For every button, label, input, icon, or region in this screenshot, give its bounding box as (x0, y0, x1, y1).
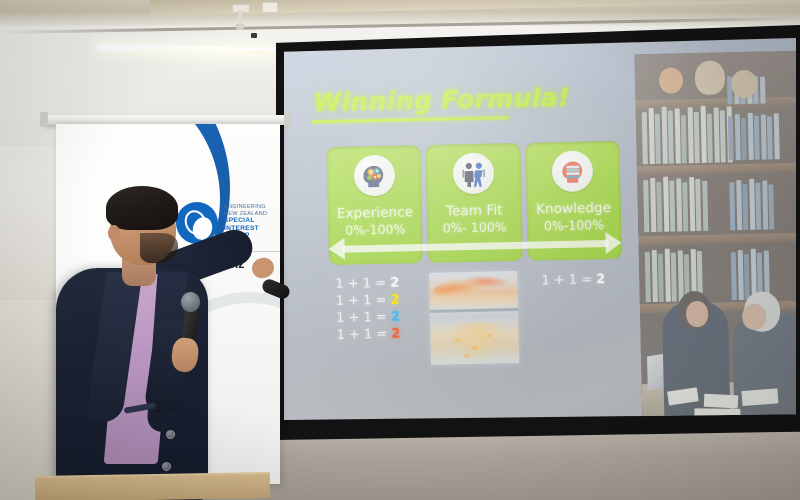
criteria-card-title: Team Fit (446, 202, 503, 219)
left-wall-panel (0, 300, 60, 500)
wall-sensor-icon (251, 33, 257, 38)
equation-text: 1 + 1 = (335, 276, 390, 292)
banner-roller-cap (284, 112, 292, 127)
equation-row: 1 + 1 = 2 (336, 309, 400, 327)
equation-row: 1 + 1 = 2 (335, 275, 399, 293)
sunset-horizon-line (430, 308, 518, 313)
equation-row: 1 + 1 = 2 (541, 271, 605, 289)
banner-org-line3: SPECIAL (224, 217, 280, 224)
presentation-scene: Winning Formula! (0, 0, 800, 500)
equation-list-right: 1 + 1 = 2 (541, 271, 605, 289)
equation-result: 2 (390, 293, 399, 308)
banner-org-line5: GROUP (224, 232, 280, 239)
criteria-card-title: Experience (337, 204, 414, 222)
head-with-books-icon (552, 150, 594, 192)
banner-grey-swoosh (144, 292, 280, 484)
engineering-new-zealand-sig-logo (176, 202, 218, 244)
equation-text: 1 + 1 = (336, 327, 391, 343)
banner-org-line1: ENGINEERING (224, 204, 280, 211)
equation-text: 1 + 1 = (336, 293, 391, 309)
slide-content: Winning Formula! (284, 38, 796, 420)
equation-list-left: 1 + 1 = 2 1 + 1 = 2 1 + 1 = 2 1 + 1 = 2 (335, 275, 400, 344)
banner-org-line2: NEW ZEALAND (224, 211, 280, 218)
equation-result: 2 (391, 310, 400, 325)
banner-url: sigie.org.nz (174, 257, 245, 271)
projection-wash (634, 51, 796, 420)
rollup-banner: ENGINEERING NEW ZEALAND SPECIAL INTEREST… (56, 124, 280, 484)
projection-screen-surface: Winning Formula! (284, 38, 796, 420)
sunset-beach-photo (429, 271, 519, 365)
table (35, 474, 270, 500)
sprinkler-head-icon (236, 24, 244, 30)
arrow-bar (343, 240, 609, 253)
slide-title: Winning Formula! (313, 83, 570, 118)
banner-org-line4: INTEREST (224, 225, 280, 232)
equation-result: 2 (390, 276, 399, 291)
slide-title-underline (312, 116, 509, 123)
banner-roller-cap (40, 112, 48, 127)
equation-text: 1 + 1 = (541, 272, 596, 288)
equation-row: 1 + 1 = 2 (336, 326, 400, 344)
equation-result: 2 (391, 327, 400, 342)
two-people-icon (453, 152, 495, 194)
equation-row: 1 + 1 = 2 (336, 292, 400, 310)
arrow-head-left-icon (328, 238, 344, 260)
sunset-water-glow (448, 322, 505, 363)
library-bookshelf-two-people-photo (634, 51, 796, 420)
arrow-head-right-icon (605, 232, 621, 254)
criteria-card-title: Knowledge (536, 200, 611, 218)
banner-org-text: ENGINEERING NEW ZEALAND SPECIAL INTEREST… (224, 204, 280, 239)
ceiling-speaker-icon (262, 2, 278, 13)
equation-result: 2 (596, 272, 605, 287)
banner-divider (168, 251, 280, 252)
equation-text: 1 + 1 = (336, 310, 391, 326)
head-with-gears-icon (353, 155, 395, 197)
